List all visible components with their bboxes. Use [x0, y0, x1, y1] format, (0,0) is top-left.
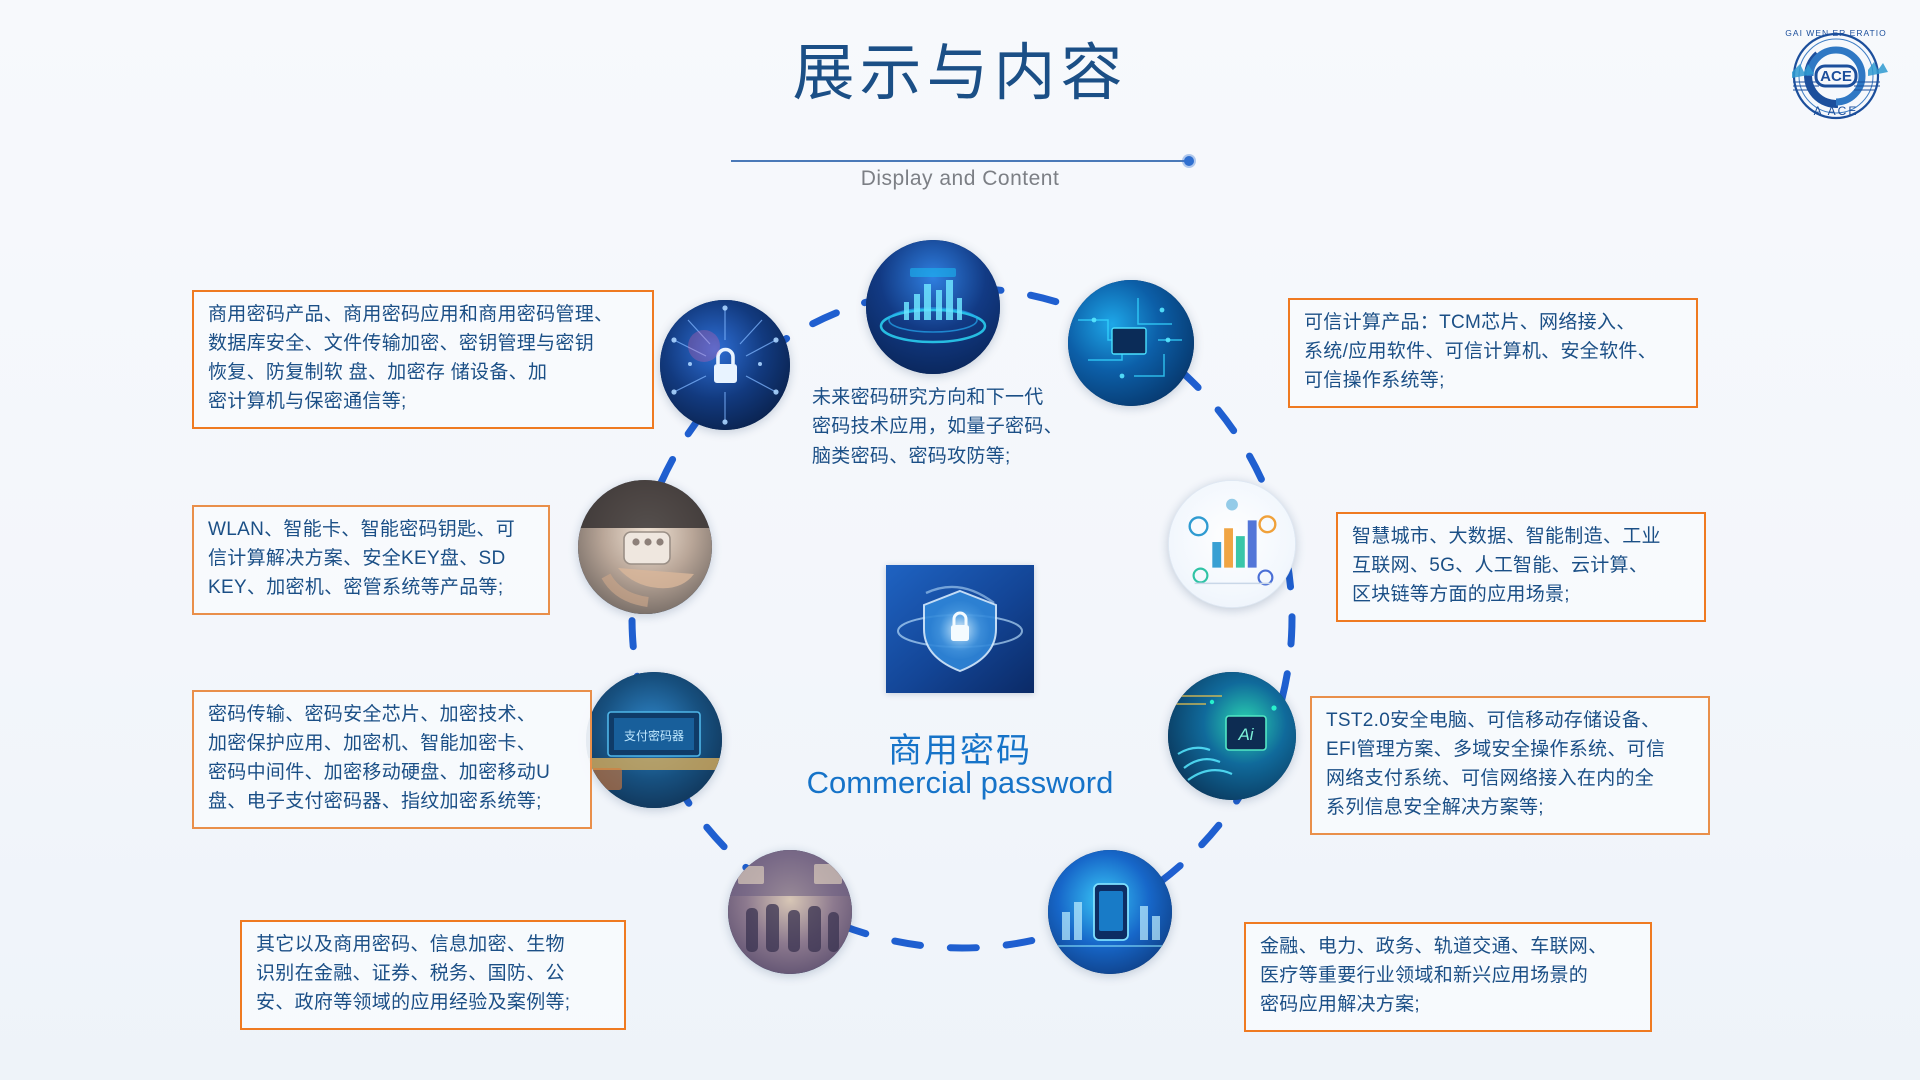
- callout-other-applications: 其它以及商用密码、信息加密、生物 识别在金融、证券、税务、国防、公 安、政府等领…: [240, 920, 626, 1030]
- callout-wlan-smartcard: WLAN、智能卡、智能密码钥匙、可 信计算解决方案、安全KEY盘、SD KEY、…: [192, 505, 550, 615]
- aace-logo: ACE A ACE GAI WEN ER ERATIO: [1780, 22, 1892, 126]
- slide-canvas: 展示与内容 Display and Content ACE A ACE GAI …: [0, 0, 1920, 1080]
- node-exhibition-hall: [728, 850, 852, 974]
- page-subtitle: Display and Content: [861, 167, 1060, 191]
- callout-password-transmission: 密码传输、密码安全芯片、加密技术、 加密保护应用、加密机、智能加密卡、 密码中间…: [192, 690, 592, 829]
- callout-tst20-secure-pc: TST2.0安全电脑、可信移动存储设备、 EFI管理方案、多域安全操作系统、可信…: [1310, 696, 1710, 835]
- svg-text:A ACE: A ACE: [1814, 104, 1859, 118]
- text-future-cryptography: 未来密码研究方向和下一代 密码技术应用，如量子密码、 脑类密码、密码攻防等;: [812, 383, 1112, 471]
- node-car-key: [578, 480, 712, 614]
- svg-text:ACE: ACE: [1820, 68, 1852, 85]
- callout-smart-city: 智慧城市、大数据、智能制造、工业 互联网、5G、人工智能、云计算、 区块链等方面…: [1336, 512, 1706, 622]
- callout-commercial-password-products: 商用密码产品、商用密码应用和商用密码管理、 数据库安全、文件传输加密、密钥管理与…: [192, 290, 654, 429]
- page-title-block: 展示与内容: [0, 38, 1920, 109]
- node-smart-device: [1048, 850, 1172, 974]
- node-padlock-network: [660, 300, 790, 430]
- callout-finance-power: 金融、电力、政务、轨道交通、车联网、 医疗等重要行业领域和新兴应用场景的 密码应…: [1244, 922, 1652, 1032]
- page-title: 展示与内容: [0, 38, 1920, 109]
- svg-text:GAI WEN ER ERATIO: GAI WEN ER ERATIO: [1785, 28, 1886, 38]
- node-smart-city: [866, 240, 1000, 374]
- callout-trusted-computing: 可信计算产品：TCM芯片、网络接入、 系统/应用软件、可信计算机、安全软件、 可…: [1288, 298, 1698, 408]
- center-shield-lock-image: [886, 565, 1034, 693]
- node-data-analytics: [1168, 480, 1296, 608]
- title-divider: [731, 160, 1189, 162]
